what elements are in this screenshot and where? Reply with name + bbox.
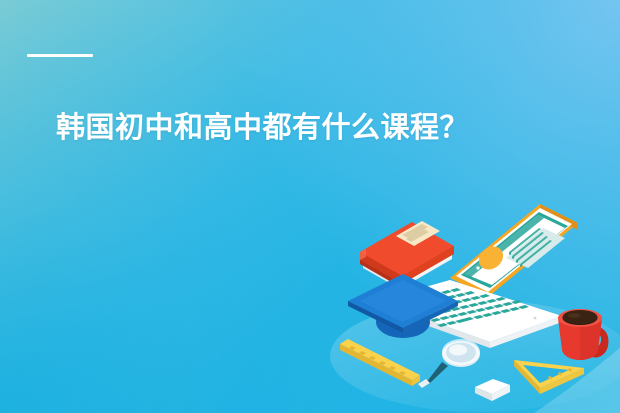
page-title: 韩国初中和高中都有什么课程？ <box>56 104 469 146</box>
title-underline <box>27 54 93 57</box>
banner-card: 韩国初中和高中都有什么课程？ <box>0 0 620 413</box>
coffee-mug <box>558 309 608 360</box>
education-illustration <box>330 196 620 413</box>
